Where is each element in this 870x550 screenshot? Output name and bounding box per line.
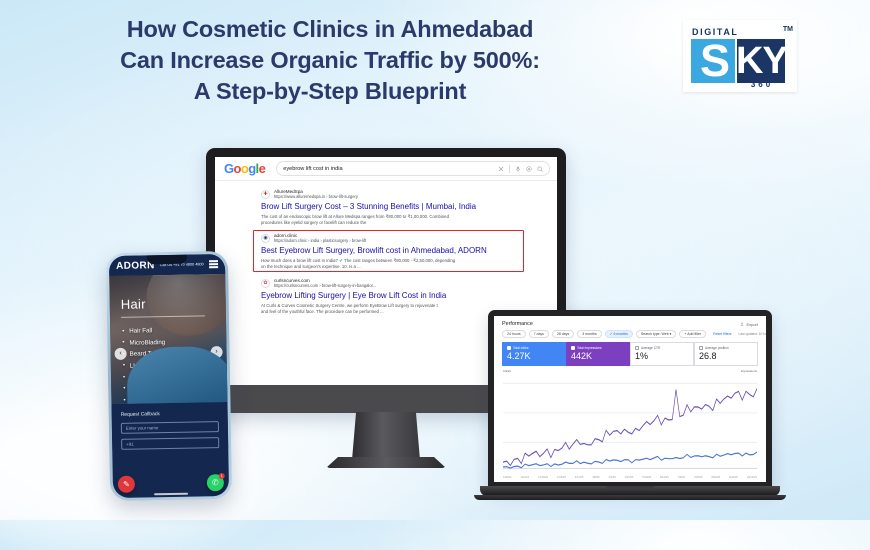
list-item[interactable]: SMP [123, 394, 188, 404]
checkbox-icon[interactable] [699, 346, 703, 350]
x-tick-label: 12/2/24 [520, 476, 529, 479]
logo-letter-s: S [694, 37, 736, 85]
mobile-phone-mockup: ADORN Call Us +91 70 4800 4800 Hair Hair… [106, 251, 232, 501]
x-tick-label: 1/19/25 [557, 476, 566, 479]
metric-card-average-ctr[interactable]: Average CTR 1% [630, 342, 694, 366]
series-total-impressions [503, 389, 757, 466]
x-tick-label: 8/23/25 [711, 476, 720, 479]
hero-heading: Hair [121, 296, 146, 311]
chart-x-tick-labels: 11/8/2412/2/2412/26/241/19/252/12/253/8/… [494, 476, 766, 482]
x-tick-label: 9/16/25 [729, 476, 738, 479]
metric-label: Total impressions [577, 346, 602, 350]
result-title-link[interactable]: Best Eyebrow Lift Surgery, Browlift cost… [261, 245, 548, 256]
metric-card-average-position[interactable]: Average position 26.8 [694, 342, 758, 366]
metric-label: Total clicks [513, 346, 528, 350]
gsc-page-title: Performance [502, 321, 533, 327]
search-query-text: eyebrow lift cost in india [283, 166, 498, 172]
desc-answer: The cost ranges between ₹80,000 - ₹2,50,… [344, 258, 455, 263]
search-icon[interactable] [537, 166, 543, 172]
chart-svg [503, 373, 757, 474]
result-description-line-2: on the technique and surgeon's expertise… [261, 264, 548, 270]
x-tick-label: 4/1/25 [609, 476, 616, 479]
laptop-mockup: Performance Export 24 hours 7 days 28 da… [480, 310, 780, 510]
checkbox-icon[interactable] [635, 346, 639, 350]
brand-logo: DIGITAL TM S KY 360 [683, 20, 797, 92]
x-tick-label: 4/25/25 [625, 476, 634, 479]
carousel-prev-icon[interactable]: ‹ [114, 347, 126, 359]
search-console-app: Performance Export 24 hours 7 days 28 da… [494, 316, 766, 482]
phone-screen: ADORN Call Us +91 70 4800 4800 Hair Hair… [109, 254, 229, 498]
checkbox-icon[interactable] [507, 346, 511, 350]
carousel-dots[interactable] [111, 393, 227, 398]
metric-value: 442K [571, 351, 625, 361]
x-tick-label: 7/6/25 [678, 476, 685, 479]
x-tick-label: 5/19/25 [642, 476, 651, 479]
edit-enquiry-icon[interactable]: ✎ [118, 476, 135, 493]
search-input[interactable]: eyebrow lift cost in india [276, 161, 550, 176]
favicon-icon: ✚ [261, 190, 270, 199]
chart-axis-labels: Clicks Impressions [494, 366, 766, 373]
result-url: https://www.alluremedspa.in › brow-lift-… [274, 194, 358, 199]
chip-add-filter[interactable]: + Add filter [679, 330, 706, 338]
edit-icon: ✎ [123, 480, 130, 489]
monitor-stand-neck [352, 412, 420, 460]
export-icon [740, 322, 744, 326]
carousel-next-icon[interactable]: › [210, 346, 222, 358]
chip-24-hours[interactable]: 24 hours [502, 330, 526, 338]
chip-search-type[interactable]: Search type: Web ▾ [636, 330, 677, 338]
check-icon: ✔ [339, 258, 343, 263]
close-icon[interactable] [498, 166, 504, 172]
metric-value: 4.27K [507, 351, 561, 361]
metric-label: Average position [705, 346, 729, 350]
monitor-stand-base [326, 457, 446, 468]
search-result-1[interactable]: ✚ AllureMedSpa https://www.alluremedspa.… [261, 189, 548, 226]
x-tick-label: 2/12/25 [575, 476, 584, 479]
gsc-header: Performance Export [494, 316, 766, 330]
whatsapp-icon[interactable]: ✆ 1 [207, 474, 224, 491]
title-line-1: How Cosmetic Clinics in Ahmedabad [0, 14, 660, 45]
series-total-clicks [503, 452, 757, 468]
phone-prefix: +91 [126, 442, 134, 447]
logo-letters-ky: KY [736, 37, 786, 85]
x-tick-label: 11/8/24 [503, 476, 511, 479]
x-tick-label: 3/8/25 [592, 476, 599, 479]
phone-call-icon: ✆ [212, 478, 219, 487]
search-result-2-highlighted[interactable]: ◉ adorn.clinic https://adorn.clinic › in… [261, 233, 548, 270]
performance-line-chart [503, 373, 757, 474]
phone-hero-banner: Hair Hair Fall MicroBlading Beard Transp… [109, 274, 227, 404]
laptop-lid: Performance Export 24 hours 7 days 28 da… [488, 310, 772, 488]
page-title: How Cosmetic Clinics in Ahmedabad Can In… [0, 14, 660, 107]
gsc-filter-chips: 24 hours 7 days 28 days 3 months ✓ 6 mon… [494, 330, 766, 342]
desc-question: How much does a brow lift cost in India? [261, 258, 338, 263]
result-description-line-2: procedures like eyelid surgery or faceli… [261, 220, 548, 226]
chip-6-months-active[interactable]: ✓ 6 months [605, 330, 633, 338]
home-indicator [154, 492, 188, 495]
gsc-metric-cards: Total clicks 4.27K Total impressions 442… [494, 342, 766, 366]
last-updated-text: Last updated: 10 hours ago [739, 332, 766, 336]
checkbox-icon[interactable] [571, 346, 575, 350]
result-url: https://adorn.clinic › india › plasticsu… [274, 238, 366, 243]
google-logo: Google [224, 162, 265, 175]
x-tick-label: 10/10/25 [747, 476, 757, 479]
phone-floating-actions: ✎ ✆ 1 [113, 470, 229, 498]
x-tick-label: 6/12/25 [660, 476, 669, 479]
list-item[interactable]: HAIR TRANSPLANT [123, 383, 188, 396]
logo-360-text: 360 [739, 80, 785, 89]
favicon-icon: ✿ [261, 279, 270, 288]
services-list: Hair Fall MicroBlading Beard Transplant … [122, 325, 188, 404]
hamburger-menu-icon[interactable] [209, 261, 218, 268]
export-label: Export [746, 322, 758, 327]
form-title: Request Callback [121, 410, 219, 418]
metric-value: 26.8 [699, 351, 753, 361]
list-item[interactable]: Hair Medicines [123, 371, 188, 384]
laptop-screen: Performance Export 24 hours 7 days 28 da… [494, 316, 766, 482]
list-item[interactable]: MicroBlading [122, 336, 187, 349]
name-placeholder: Enter your name [126, 425, 159, 431]
phone-notch [147, 255, 187, 265]
name-input[interactable]: Enter your name [121, 421, 219, 434]
callback-form: Request Callback Enter your name +91 [111, 402, 228, 450]
logo-tm-mark: TM [783, 26, 793, 33]
google-search-bar: Google eyebrow lift cost in india [215, 157, 557, 181]
phone-input[interactable]: +91 [121, 437, 219, 450]
reset-filters-button[interactable]: Reset filters [709, 331, 735, 337]
metric-card-total-clicks[interactable]: Total clicks 4.27K [502, 342, 566, 366]
result-url: https://curlsncurves.com › brow-lift-sur… [274, 283, 376, 288]
laptop-foot [474, 495, 786, 500]
lens-icon[interactable] [526, 166, 532, 172]
list-item[interactable]: LLLT [123, 359, 188, 372]
chip-7-days[interactable]: 7 days [529, 330, 549, 338]
result-title-link[interactable]: Brow Lift Surgery Cost – 3 Stunning Bene… [261, 201, 548, 212]
favicon-icon: ◉ [261, 234, 270, 243]
divider [509, 165, 510, 173]
chip-28-days[interactable]: 28 days [552, 330, 574, 338]
export-button[interactable]: Export [740, 322, 758, 327]
metric-value: 1% [635, 351, 689, 361]
result-title-link[interactable]: Eyebrow Lifting Surgery | Eye Brow Lift … [261, 290, 548, 301]
chip-3-months[interactable]: 3 months [577, 330, 601, 338]
metric-label: Average CTR [641, 346, 660, 350]
notification-badge: 1 [219, 473, 225, 479]
x-tick-label: 12/26/24 [538, 476, 548, 479]
microphone-icon[interactable] [515, 166, 521, 172]
title-line-3: A Step-by-Step Blueprint [0, 76, 660, 107]
title-line-2: Can Increase Organic Traffic by 500%: [0, 45, 660, 76]
list-item[interactable]: Beard Transplant [123, 348, 188, 361]
metric-card-total-impressions[interactable]: Total impressions 442K [566, 342, 630, 366]
x-tick-label: 7/30/25 [694, 476, 703, 479]
